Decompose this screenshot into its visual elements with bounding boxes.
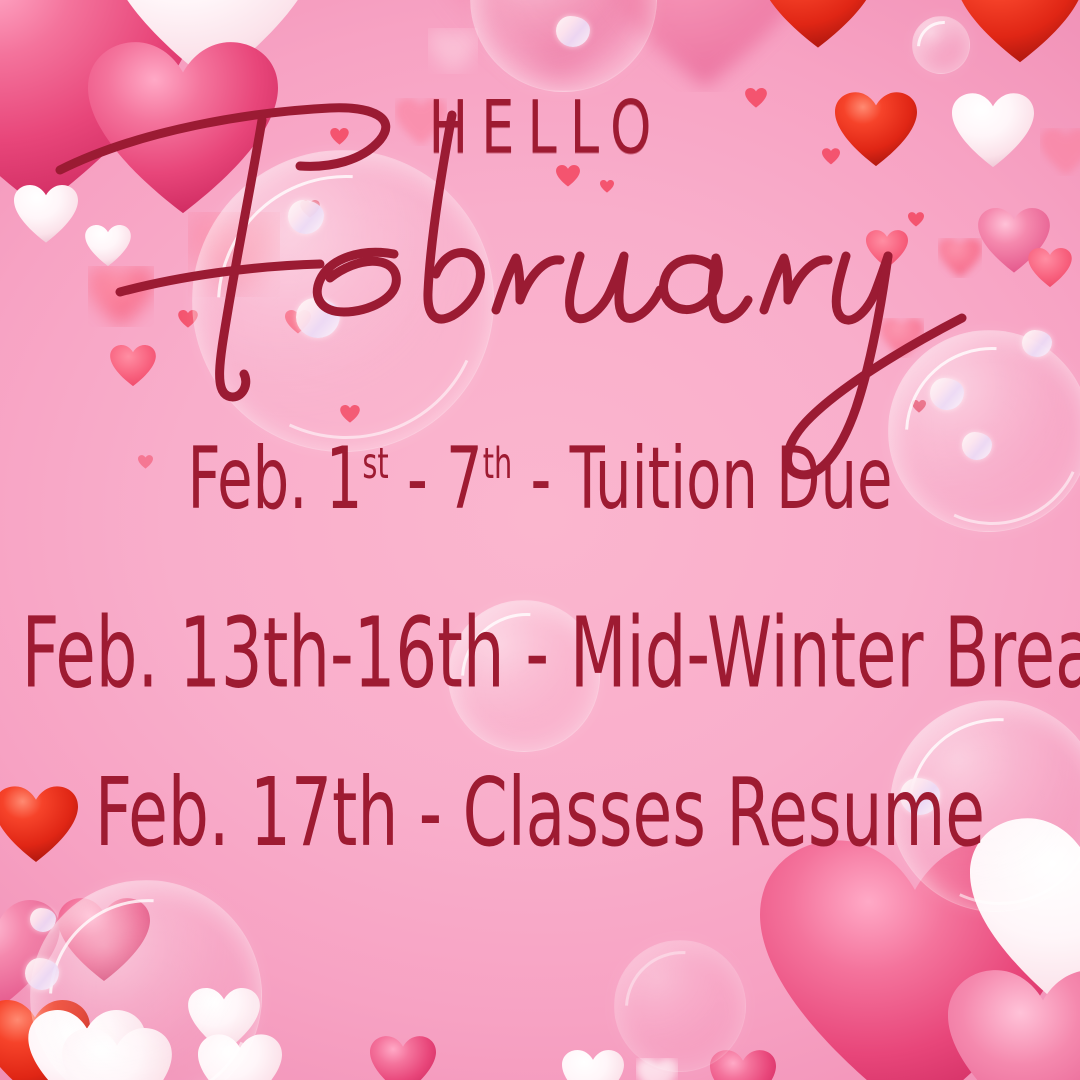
text-layer: HELLO February [0, 0, 1080, 1080]
event-end-ordinal: th [483, 438, 513, 489]
event-date-prefix: Feb. [187, 428, 325, 528]
event-line-classes-resume: Feb. 17th - Classes Resume [16, 758, 1064, 868]
event-start-ordinal: st [362, 438, 388, 489]
event-line-tuition-due: Feb. 1st - 7th - Tuition Due [16, 428, 1064, 528]
event-separator: - [512, 428, 569, 528]
event-start-number: 1 [326, 428, 363, 528]
february-announcement-poster: HELLO February [0, 0, 1080, 1080]
event-end-number: 7 [446, 428, 483, 528]
event-range-dash: - [389, 428, 446, 528]
event-line-mid-winter-break: Feb. 13th-16th - Mid-Winter Break [22, 596, 1059, 710]
february-script-wordmark: February [0, 60, 1080, 390]
